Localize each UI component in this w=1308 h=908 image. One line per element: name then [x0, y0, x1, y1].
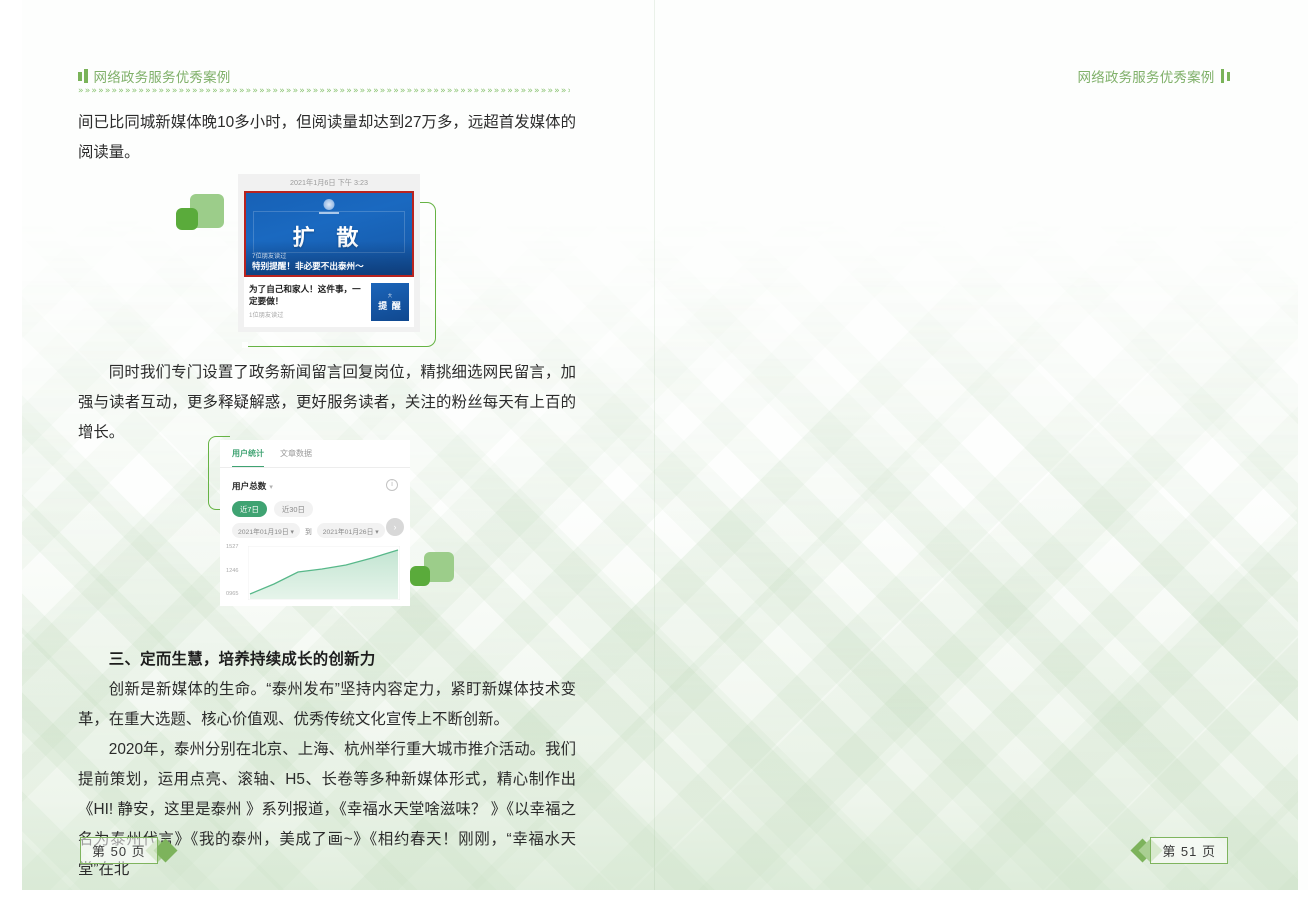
left-paragraph-3: 创新是新媒体的生命。“泰州发布”坚持内容定力，紧盯新媒体技术变革，在重大选题、核… [78, 675, 576, 735]
emblem-underline [319, 212, 339, 214]
decor-square-small [410, 566, 430, 586]
thumb-text: 提 醒 [378, 299, 402, 312]
left-paragraph-1-block: 间已比同城新媒体晚10多小时，但阅读量却达到27万多，远超首发媒体的阅读量。 [78, 108, 576, 168]
statistics-tabs: 用户统计 文章数据 [220, 440, 410, 468]
page-number-right: 第 51 页 [1134, 837, 1228, 863]
running-head-label: 网络政务服务优秀案例 [94, 66, 231, 86]
decor-square-small [176, 208, 198, 230]
push-card-subtitle: 特别提醒！非必要不出泰州～ [252, 260, 364, 272]
left-paragraph-2-block: 同时我们专门设置了政务新闻留言回复岗位，精挑细选网民留言，加强与读者互动，更多释… [78, 358, 576, 448]
left-paragraph-1: 间已比同城新媒体晚10多小时，但阅读量却达到27万多，远超首发媒体的阅读量。 [78, 108, 576, 168]
y-tick-bottom: 0965 [226, 591, 238, 597]
wechat-push-screenshot: 2021年1月6日 下午 3:23 扩 散 7位朋友读过 特别提醒！非必要不出泰… [238, 174, 420, 332]
left-paragraph-2: 同时我们专门设置了政务新闻留言回复岗位，精挑细选网民留言，加强与读者互动，更多释… [78, 358, 576, 448]
date-from-value: 2021年01月19日 [238, 529, 289, 536]
push-card-friends: 7位朋友读过 [252, 251, 286, 260]
y-tick-middle: 1246 [226, 568, 238, 574]
push-item-thumbnail: 大 提 醒 [371, 283, 409, 321]
page-number-label: 第 51 页 [1150, 837, 1228, 864]
book-spread: 网络政务服务优秀案例 »»»»»»»»»»»»»»»»»»»»»»»»»»»»»… [0, 0, 1308, 908]
thumb-small-text: 大 [388, 293, 392, 299]
y-tick-top: 1527 [226, 544, 238, 550]
header-rule-left: »»»»»»»»»»»»»»»»»»»»»»»»»»»»»»»»»»»»»»»»… [78, 86, 570, 96]
range-chips: 近7日 近30日 [220, 494, 410, 517]
left-page: 网络政务服务优秀案例 »»»»»»»»»»»»»»»»»»»»»»»»»»»»»… [0, 0, 654, 908]
next-period-button[interactable]: › [386, 518, 404, 536]
push-list-item: 为了自己和家人！这件事，一定要做！ 1位朋友读过 大 提 醒 [244, 277, 414, 327]
date-from-field[interactable]: 2021年01月19日 ▾ [232, 523, 300, 538]
push-item-meta: 1位朋友读过 [249, 310, 365, 319]
push-item-title: 为了自己和家人！这件事，一定要做！ [249, 283, 365, 307]
right-page: 网络政务服务优秀案例 «««««««««««««««««««««««««««««… [654, 0, 1308, 908]
tab-article-data[interactable]: 文章数据 [280, 448, 312, 467]
metric-selector[interactable]: 用户总数▾ [232, 476, 273, 494]
page-number-left: 第 50 页 [80, 837, 174, 863]
running-head-right: 网络政务服务优秀案例 [1078, 66, 1231, 86]
push-item-text: 为了自己和家人！这件事，一定要做！ 1位朋友读过 [249, 283, 365, 319]
date-separator: 到 [305, 526, 312, 536]
push-timestamp: 2021年1月6日 下午 3:23 [238, 174, 420, 191]
chip-last-30-days[interactable]: 近30日 [274, 501, 313, 517]
figure-user-statistics: 用户统计 文章数据 用户总数▾ i 近7日 近30日 2021年01月19日 ▾… [206, 436, 466, 611]
date-to-field[interactable]: 2021年01月26日 ▾ [317, 523, 385, 538]
push-card-highlighted: 扩 散 7位朋友读过 特别提醒！非必要不出泰州～ [244, 191, 414, 277]
user-total-area-chart: 1527 1246 0965 [226, 546, 404, 600]
section-heading-3: 三、定而生慧，培养持续成长的创新力 [78, 645, 576, 675]
running-head-left: 网络政务服务优秀案例 [78, 66, 231, 86]
metric-row: 用户总数▾ i [220, 468, 410, 494]
tab-user-statistics[interactable]: 用户统计 [232, 448, 264, 467]
emblem-icon [324, 199, 335, 210]
figure-wechat-push: 2021年1月6日 下午 3:23 扩 散 7位朋友读过 特别提醒！非必要不出泰… [176, 172, 468, 358]
chart-svg [248, 546, 400, 600]
bars-icon [78, 69, 88, 83]
date-range-row: 2021年01月19日 ▾ 到 2021年01月26日 ▾ [220, 517, 410, 538]
push-card-headline: 扩 散 [246, 220, 412, 252]
page-number-label: 第 50 页 [80, 837, 158, 864]
chevron-down-icon: ▾ [269, 484, 273, 491]
bars-icon [1221, 69, 1231, 83]
date-to-value: 2021年01月26日 [323, 529, 374, 536]
running-head-label: 网络政务服务优秀案例 [1078, 66, 1215, 86]
metric-label: 用户总数 [232, 481, 266, 491]
info-icon[interactable]: i [386, 479, 398, 491]
chip-last-7-days[interactable]: 近7日 [232, 501, 267, 517]
statistics-screenshot: 用户统计 文章数据 用户总数▾ i 近7日 近30日 2021年01月19日 ▾… [220, 440, 410, 606]
